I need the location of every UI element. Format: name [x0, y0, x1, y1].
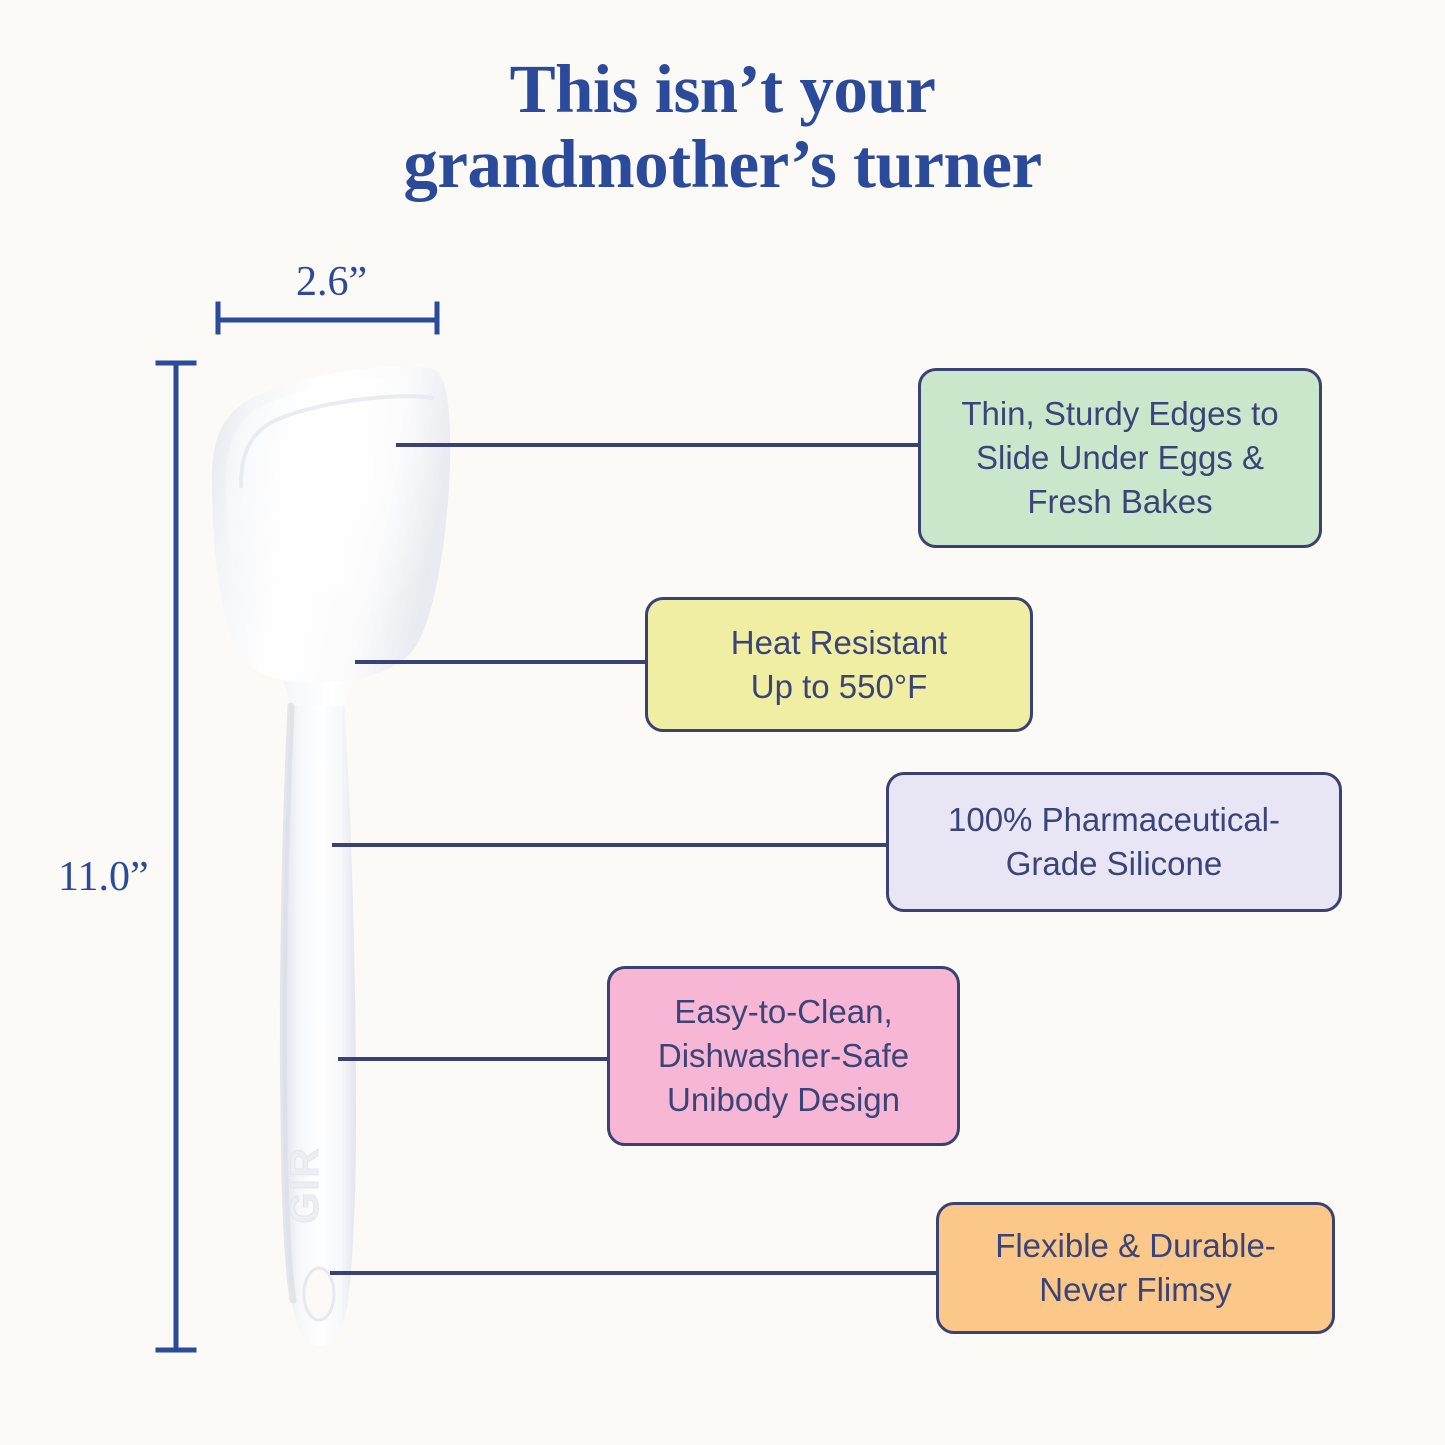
callout-flexible-durable-text: Flexible & Durable- Never Flimsy	[995, 1224, 1276, 1312]
hanging-hole	[304, 1268, 334, 1320]
width-dimension-label: 2.6”	[296, 258, 367, 306]
callout-easy-to-clean-text: Easy-to-Clean, Dishwasher-Safe Unibody D…	[658, 990, 909, 1122]
callout-pharmaceutical-grade-silicone[interactable]: 100% Pharmaceutical- Grade Silicone	[886, 772, 1342, 912]
callout-heat-resistant-text: Heat Resistant Up to 550°F	[731, 621, 947, 709]
infographic-canvas: This isn’t your grandmother’s turner	[0, 0, 1445, 1445]
callout-easy-to-clean[interactable]: Easy-to-Clean, Dishwasher-Safe Unibody D…	[607, 966, 960, 1146]
width-dimension-bracket	[218, 304, 437, 332]
callout-pharmaceutical-grade-silicone-text: 100% Pharmaceutical- Grade Silicone	[948, 798, 1280, 886]
height-dimension-bracket	[158, 363, 194, 1350]
callout-heat-resistant[interactable]: Heat Resistant Up to 550°F	[645, 597, 1033, 732]
blade-highlight	[226, 377, 438, 670]
brand-emboss-gir: GIR	[283, 1146, 327, 1223]
spatula-handle	[282, 700, 356, 1346]
product-illustration: GIR	[212, 366, 450, 1346]
callout-thin-sturdy-edges[interactable]: Thin, Sturdy Edges to Slide Under Eggs &…	[918, 368, 1322, 548]
svg-text:GIR: GIR	[283, 1146, 327, 1223]
callout-thin-sturdy-edges-text: Thin, Sturdy Edges to Slide Under Eggs &…	[961, 392, 1278, 524]
height-dimension-label: 11.0”	[58, 853, 149, 901]
callout-flexible-durable[interactable]: Flexible & Durable- Never Flimsy	[936, 1202, 1335, 1334]
